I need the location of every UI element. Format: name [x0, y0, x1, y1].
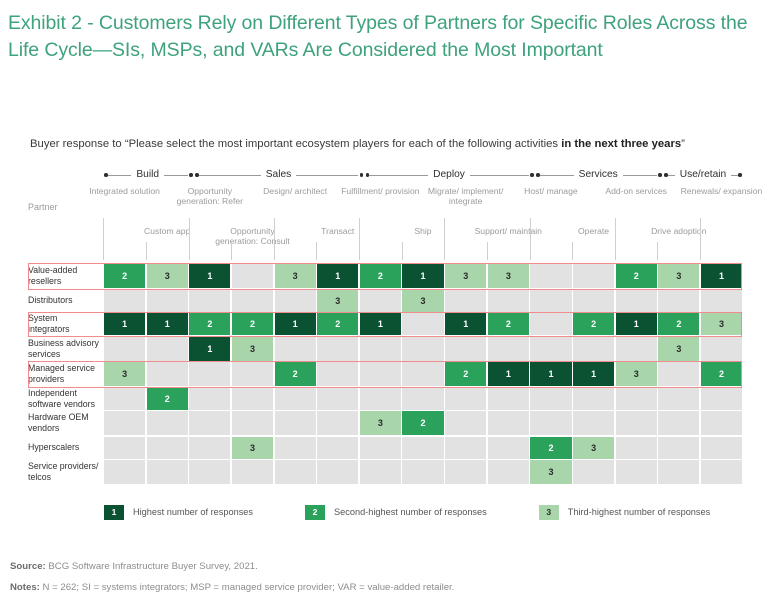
heatmap-cell[interactable]	[573, 388, 614, 410]
heatmap-cell[interactable]: 1	[189, 264, 230, 288]
row-cells: 32	[104, 411, 742, 435]
heatmap-cell[interactable]: 2	[232, 313, 273, 335]
column-tick	[316, 242, 317, 260]
phase-rule	[540, 175, 574, 176]
phase-divider-dot-icon	[738, 173, 742, 177]
column-header-add-on-services: Add-on services	[595, 186, 677, 196]
heatmap-cell[interactable]	[275, 437, 316, 459]
heatmap-cell[interactable]: 1	[275, 313, 316, 335]
heatmap-cell[interactable]	[658, 388, 699, 410]
heatmap-cell[interactable]	[232, 264, 273, 288]
heatmap-cell[interactable]	[232, 388, 273, 410]
heatmap-cell[interactable]: 3	[701, 313, 742, 335]
column-tick	[657, 242, 658, 260]
column-tick	[444, 218, 445, 260]
heatmap-cell[interactable]	[275, 460, 316, 484]
heatmap-cell[interactable]	[573, 264, 614, 288]
heatmap-cell[interactable]	[360, 362, 401, 386]
phase-rule	[623, 175, 657, 176]
heatmap-cell[interactable]	[530, 264, 571, 288]
heatmap-cell[interactable]: 1	[402, 264, 443, 288]
column-header-operate: Operate	[552, 226, 634, 236]
heatmap-chart: BuildSalesDeployServicesUse/retain Partn…	[28, 168, 742, 493]
heatmap-cell[interactable]	[104, 388, 145, 410]
row-label-service-providers-telcos: Service providers/ telcos	[28, 460, 104, 484]
heatmap-matrix: Value-added resellers231312133231Distrib…	[28, 264, 742, 484]
heatmap-cell[interactable]	[488, 437, 529, 459]
source-text: BCG Software Infrastructure Buyer Survey…	[46, 561, 258, 572]
legend-label: Third-highest number of responses	[568, 507, 710, 517]
subtitle-lead: Buyer response to “Please select the mos…	[30, 138, 561, 150]
heatmap-cell[interactable]: 2	[573, 313, 614, 335]
heatmap-cell[interactable]: 1	[488, 362, 529, 386]
phase-divider-dot-icon	[530, 173, 534, 177]
phase-label: Use/retain	[675, 168, 731, 182]
row-label-independent-software-vendors: Independent software vendors	[28, 388, 104, 410]
heatmap-cell[interactable]	[147, 437, 188, 459]
column-tick	[103, 218, 104, 260]
heatmap-cell[interactable]: 3	[104, 362, 145, 386]
column-header-drive-adoption: Drive adoption	[638, 226, 720, 236]
heatmap-cell[interactable]	[317, 411, 358, 435]
row-cells: 323	[104, 437, 742, 459]
heatmap-cell[interactable]	[616, 460, 657, 484]
heatmap-cell[interactable]	[275, 337, 316, 361]
phase-rule	[731, 175, 738, 176]
heatmap-cell[interactable]	[189, 460, 230, 484]
exhibit-page: Exhibit 2 - Customers Rely on Different …	[0, 0, 768, 614]
source-label: Source:	[10, 561, 46, 572]
phase-rule	[668, 175, 675, 176]
column-tick	[146, 242, 147, 260]
heatmap-cell[interactable]	[658, 460, 699, 484]
heatmap-cell[interactable]	[488, 460, 529, 484]
heatmap-cell[interactable]	[189, 388, 230, 410]
heatmap-cell[interactable]	[275, 411, 316, 435]
column-header-host-manage: Host/ manage	[510, 186, 592, 196]
heatmap-cell[interactable]	[402, 460, 443, 484]
table-row: Hyperscalers323	[28, 437, 742, 459]
heatmap-cell[interactable]	[530, 313, 571, 335]
column-tick	[359, 218, 360, 260]
heatmap-cell[interactable]: 2	[701, 362, 742, 386]
heatmap-cell[interactable]	[147, 337, 188, 361]
column-header-integrated-solution: Integrated solution	[83, 186, 165, 196]
heatmap-cell[interactable]	[616, 290, 657, 312]
heatmap-cell[interactable]: 3	[232, 337, 273, 361]
phase-divider-dot-icon	[189, 173, 193, 177]
legend-item-rank-2: 2Second-highest number of responses	[305, 505, 487, 520]
row-label-managed-service-providers: Managed service providers	[28, 362, 104, 386]
heatmap-cell[interactable]	[530, 388, 571, 410]
legend-label: Second-highest number of responses	[334, 507, 487, 517]
heatmap-cell[interactable]	[360, 437, 401, 459]
phase-divider-dot-icon	[360, 173, 364, 177]
heatmap-cell[interactable]	[360, 388, 401, 410]
column-tick	[274, 218, 275, 260]
column-header-transact: Transact	[297, 226, 379, 236]
heatmap-cell[interactable]	[530, 411, 571, 435]
table-row: System integrators1122121122123	[28, 313, 742, 335]
column-header-fulfillment-provision: Fulfillment/ provision	[339, 186, 421, 196]
heatmap-cell[interactable]	[488, 290, 529, 312]
heatmap-cell[interactable]	[360, 290, 401, 312]
phase-rule	[296, 175, 358, 176]
heatmap-cell[interactable]: 3	[573, 437, 614, 459]
heatmap-cell[interactable]	[445, 411, 486, 435]
legend: 1Highest number of responses2Second-high…	[104, 503, 744, 521]
legend-swatch: 2	[305, 505, 325, 520]
heatmap-cell[interactable]	[189, 411, 230, 435]
column-header-opportunity-generation-consult: Opportunity generation: Consult	[211, 226, 293, 247]
row-label-hardware-oem-vendors: Hardware OEM vendors	[28, 411, 104, 435]
row-cells: 32211132	[104, 362, 742, 386]
heatmap-cell[interactable]: 2	[104, 264, 145, 288]
heatmap-cell[interactable]	[147, 460, 188, 484]
heatmap-cell[interactable]	[317, 388, 358, 410]
heatmap-cell[interactable]	[701, 388, 742, 410]
heatmap-cell[interactable]	[445, 388, 486, 410]
heatmap-cell[interactable]	[701, 411, 742, 435]
heatmap-cell[interactable]: 1	[104, 313, 145, 335]
heatmap-cell[interactable]	[402, 337, 443, 361]
heatmap-cell[interactable]	[104, 460, 145, 484]
phase-band-services: Services	[530, 168, 656, 182]
heatmap-cell[interactable]: 2	[317, 313, 358, 335]
heatmap-cell[interactable]: 2	[360, 264, 401, 288]
column-header-design-architect: Design/ architect	[254, 186, 336, 196]
notes-label: Notes:	[10, 582, 40, 593]
row-cells: 1122121122123	[104, 313, 742, 335]
heatmap-cell[interactable]	[189, 362, 230, 386]
column-header-migrate-implement-integrate: Migrate/ implement/ integrate	[425, 186, 507, 207]
row-cells: 231312133231	[104, 264, 742, 288]
heatmap-cell[interactable]	[104, 337, 145, 361]
heatmap-cell[interactable]: 2	[189, 313, 230, 335]
heatmap-cell[interactable]: 3	[232, 437, 273, 459]
heatmap-cell[interactable]: 3	[616, 362, 657, 386]
heatmap-cell[interactable]	[104, 411, 145, 435]
column-tick	[402, 242, 403, 260]
subtitle-emphasis: in the next three years	[561, 138, 681, 150]
column-tick	[530, 218, 531, 260]
heatmap-cell[interactable]	[402, 388, 443, 410]
column-tick	[572, 242, 573, 260]
heatmap-cell[interactable]: 2	[658, 313, 699, 335]
heatmap-cell[interactable]	[573, 290, 614, 312]
heatmap-cell[interactable]	[573, 460, 614, 484]
heatmap-cell[interactable]: 3	[317, 290, 358, 312]
heatmap-cell[interactable]	[147, 362, 188, 386]
heatmap-cell[interactable]: 1	[189, 337, 230, 361]
phase-rule	[369, 175, 428, 176]
row-cells: 2	[104, 388, 742, 410]
heatmap-cell[interactable]	[402, 313, 443, 335]
column-header-opportunity-generation-refer: Opportunity generation: Refer	[169, 186, 251, 207]
heatmap-cell[interactable]	[573, 337, 614, 361]
phase-band-sales: Sales	[189, 168, 358, 182]
heatmap-cell[interactable]	[232, 460, 273, 484]
heatmap-cell[interactable]	[360, 460, 401, 484]
heatmap-cell[interactable]: 3	[275, 264, 316, 288]
row-label-value-added-resellers: Value-added resellers	[28, 264, 104, 288]
partner-column-header: Partner	[28, 202, 58, 212]
phase-divider-dot-icon	[658, 173, 662, 177]
heatmap-cell[interactable]	[232, 411, 273, 435]
row-label-business-advisory-services: Business advisory services	[28, 337, 104, 361]
heatmap-cell[interactable]: 3	[360, 411, 401, 435]
phase-band-build: Build	[104, 168, 188, 182]
heatmap-cell[interactable]	[701, 337, 742, 361]
heatmap-cell[interactable]	[573, 411, 614, 435]
heatmap-cell[interactable]	[488, 388, 529, 410]
table-row: Managed service providers32211132	[28, 362, 742, 386]
heatmap-cell[interactable]	[402, 437, 443, 459]
heatmap-cell[interactable]	[658, 290, 699, 312]
heatmap-cell[interactable]: 1	[701, 264, 742, 288]
phase-band-use-retain: Use/retain	[658, 168, 742, 182]
column-tick	[189, 218, 190, 260]
heatmap-cell[interactable]	[402, 362, 443, 386]
heatmap-cell[interactable]	[658, 411, 699, 435]
heatmap-cell[interactable]	[232, 290, 273, 312]
column-header-custom-app: Custom app	[126, 226, 208, 236]
heatmap-cell[interactable]	[317, 460, 358, 484]
heatmap-cell[interactable]	[701, 460, 742, 484]
phase-label: Deploy	[428, 168, 470, 182]
column-tick	[231, 242, 232, 260]
heatmap-cell[interactable]	[616, 437, 657, 459]
heatmap-cell[interactable]	[530, 337, 571, 361]
heatmap-cell[interactable]: 2	[616, 264, 657, 288]
heatmap-cell[interactable]	[445, 437, 486, 459]
table-row: Business advisory services133	[28, 337, 742, 361]
heatmap-cell[interactable]: 1	[616, 313, 657, 335]
legend-item-rank-3: 3Third-highest number of responses	[539, 505, 710, 520]
table-row: Value-added resellers231312133231	[28, 264, 742, 288]
heatmap-cell[interactable]	[232, 362, 273, 386]
heatmap-cell[interactable]	[317, 437, 358, 459]
legend-swatch: 1	[104, 505, 124, 520]
heatmap-cell[interactable]: 3	[488, 264, 529, 288]
column-tick	[487, 242, 488, 260]
phase-label: Services	[574, 168, 623, 182]
column-tick	[700, 218, 701, 260]
row-label-hyperscalers: Hyperscalers	[28, 437, 104, 459]
heatmap-cell[interactable]: 1	[360, 313, 401, 335]
legend-item-rank-1: 1Highest number of responses	[104, 505, 253, 520]
phase-rule	[199, 175, 261, 176]
table-row: Independent software vendors2	[28, 388, 742, 410]
heatmap-cell[interactable]: 2	[488, 313, 529, 335]
heatmap-cell[interactable]: 2	[402, 411, 443, 435]
heatmap-cell[interactable]	[488, 337, 529, 361]
heatmap-cell[interactable]	[658, 437, 699, 459]
heatmap-cell[interactable]: 1	[147, 313, 188, 335]
heatmap-cell[interactable]: 3	[147, 264, 188, 288]
heatmap-cell[interactable]	[189, 290, 230, 312]
heatmap-cell[interactable]	[275, 290, 316, 312]
heatmap-cell[interactable]	[104, 437, 145, 459]
notes-line: Notes: N = 262; SI = systems integrators…	[10, 581, 760, 594]
heatmap-cell[interactable]	[360, 337, 401, 361]
heatmap-cell[interactable]: 2	[275, 362, 316, 386]
column-headers: Partner Integrated solutionCustom appOpp…	[28, 184, 742, 260]
heatmap-cell[interactable]	[275, 388, 316, 410]
heatmap-cell[interactable]: 1	[317, 264, 358, 288]
heatmap-cell[interactable]	[317, 337, 358, 361]
column-tick	[615, 218, 616, 260]
heatmap-cell[interactable]: 2	[147, 388, 188, 410]
column-header-ship: Ship	[382, 226, 464, 236]
table-row: Distributors33	[28, 290, 742, 312]
page-title: Exhibit 2 - Customers Rely on Different …	[8, 10, 748, 64]
phase-rule	[108, 175, 132, 176]
subtitle: Buyer response to “Please select the mos…	[30, 137, 756, 152]
heatmap-cell[interactable]	[616, 388, 657, 410]
phase-label: Sales	[261, 168, 296, 182]
column-header-renewals-expansion: Renewals/ expansion	[680, 186, 762, 196]
heatmap-cell[interactable]	[616, 337, 657, 361]
notes-text: N = 262; SI = systems integrators; MSP =…	[40, 582, 455, 593]
column-header-support-maintain: Support/ maintain	[467, 226, 549, 236]
table-row: Hardware OEM vendors32	[28, 411, 742, 435]
heatmap-cell[interactable]: 2	[530, 437, 571, 459]
heatmap-cell[interactable]: 3	[658, 264, 699, 288]
source-line: Source: BCG Software Infrastructure Buye…	[10, 560, 760, 573]
heatmap-cell[interactable]	[701, 290, 742, 312]
row-cells: 3	[104, 460, 742, 484]
subtitle-trail: ”	[681, 138, 685, 150]
row-label-system-integrators: System integrators	[28, 313, 104, 335]
table-row: Service providers/ telcos3	[28, 460, 742, 484]
heatmap-cell[interactable]	[317, 362, 358, 386]
phase-band-row: BuildSalesDeployServicesUse/retain	[28, 168, 742, 182]
heatmap-cell[interactable]	[445, 337, 486, 361]
heatmap-cell[interactable]: 1	[530, 362, 571, 386]
heatmap-cell[interactable]	[616, 411, 657, 435]
heatmap-cell[interactable]: 3	[658, 337, 699, 361]
row-cells: 33	[104, 290, 742, 312]
heatmap-cell[interactable]: 3	[530, 460, 571, 484]
heatmap-cell[interactable]	[701, 437, 742, 459]
heatmap-cell[interactable]: 3	[402, 290, 443, 312]
legend-swatch: 3	[539, 505, 559, 520]
heatmap-cell[interactable]	[658, 362, 699, 386]
heatmap-cell[interactable]	[488, 411, 529, 435]
heatmap-cell[interactable]	[530, 290, 571, 312]
row-cells: 133	[104, 337, 742, 361]
heatmap-cell[interactable]	[445, 460, 486, 484]
phase-rule	[470, 175, 529, 176]
heatmap-cell[interactable]: 3	[445, 264, 486, 288]
heatmap-cell[interactable]: 1	[445, 313, 486, 335]
heatmap-cell[interactable]: 2	[445, 362, 486, 386]
heatmap-cell[interactable]	[147, 411, 188, 435]
heatmap-cell[interactable]: 1	[573, 362, 614, 386]
heatmap-cell[interactable]	[147, 290, 188, 312]
heatmap-cell[interactable]	[189, 437, 230, 459]
heatmap-cell[interactable]	[104, 290, 145, 312]
phase-band-deploy: Deploy	[360, 168, 529, 182]
phase-rule	[164, 175, 188, 176]
legend-label: Highest number of responses	[133, 507, 253, 517]
phase-label: Build	[131, 168, 164, 182]
row-label-distributors: Distributors	[28, 290, 104, 312]
heatmap-cell[interactable]	[445, 290, 486, 312]
